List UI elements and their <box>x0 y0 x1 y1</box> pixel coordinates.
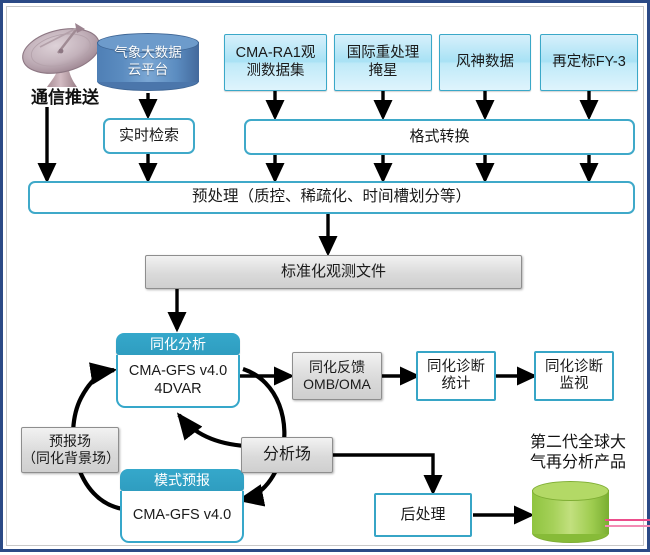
assimilation-feedback-line1: 同化反馈 <box>309 359 365 376</box>
source-fengshen-line1: 风神数据 <box>456 54 514 71</box>
forecast-field-box[interactable]: 预报场 （同化背景场） <box>21 427 119 473</box>
source-box-occultation[interactable]: 国际重处理 掩星 <box>334 34 432 91</box>
format-conversion-label: 格式转换 <box>409 128 469 146</box>
pink-accent-line-upper <box>605 519 650 521</box>
forecast-field-line1: 预报场 <box>49 433 91 450</box>
model-forecast-title: 模式预报 <box>154 470 210 490</box>
realtime-retrieval-label: 实时检索 <box>119 127 179 145</box>
assimilation-analysis-title: 同化分析 <box>150 334 206 354</box>
cloud-platform-line1: 气象大数据 <box>97 45 199 62</box>
cloud-platform-line2: 云平台 <box>97 62 199 79</box>
assimilation-diagnostic-statistics-box[interactable]: 同化诊断 统计 <box>416 351 496 401</box>
diagnostic-statistics-line1: 同化诊断 <box>427 359 485 376</box>
model-forecast-card[interactable]: 模式预报 CMA-GFS v4.0 <box>120 469 244 541</box>
format-conversion-box[interactable]: 格式转换 <box>244 119 635 155</box>
source-box-fy3[interactable]: 再定标FY-3 <box>540 34 638 91</box>
flowchart-figure: 通信推送 气象大数据 云平台 CMA-RA1观 测数据集 国际重处理 掩星 风神… <box>0 0 650 552</box>
diagnostic-statistics-line2: 统计 <box>442 376 471 393</box>
preprocessing-label: 预处理（质控、稀疏化、时间槽划分等） <box>192 188 471 206</box>
model-forecast-body: CMA-GFS v4.0 <box>120 491 244 543</box>
source-occultation-line2: 掩星 <box>369 63 398 80</box>
satellite-push-label: 通信推送 <box>11 88 119 108</box>
post-processing-box[interactable]: 后处理 <box>374 493 472 537</box>
model-forecast-header: 模式预报 <box>120 469 244 491</box>
analysis-field-box[interactable]: 分析场 <box>241 437 333 473</box>
assimilation-analysis-body: CMA-GFS v4.0 4DVAR <box>116 355 240 408</box>
standard-observation-file-label: 标准化观测文件 <box>281 263 386 281</box>
assimilation-analysis-card[interactable]: 同化分析 CMA-GFS v4.0 4DVAR <box>116 333 240 406</box>
cloud-platform-text: 气象大数据 云平台 <box>97 45 199 79</box>
realtime-retrieval-box[interactable]: 实时检索 <box>103 118 195 154</box>
assimilation-feedback-line2: OMB/OMA <box>303 376 371 393</box>
assimilation-analysis-line1: CMA-GFS v4.0 <box>129 363 227 380</box>
assimilation-diagnostic-monitoring-box[interactable]: 同化诊断 监视 <box>534 351 614 401</box>
post-processing-label: 后处理 <box>400 506 445 524</box>
source-cma-ra1-line1: CMA-RA1观 <box>236 45 316 62</box>
diagnostic-monitoring-line2: 监视 <box>560 376 589 393</box>
reanalysis-product-cylinder <box>532 481 609 543</box>
forecast-field-line2: （同化背景场） <box>22 450 118 467</box>
product-cylinder-top <box>532 481 609 501</box>
pink-accent-line-lower <box>605 525 650 527</box>
cloud-platform-cylinder: 气象大数据 云平台 <box>97 33 199 91</box>
assimilation-analysis-header: 同化分析 <box>116 333 240 355</box>
assimilation-feedback-box[interactable]: 同化反馈 OMB/OMA <box>292 352 382 400</box>
assimilation-analysis-line2: 4DVAR <box>154 381 201 398</box>
source-fy3-line1: 再定标FY-3 <box>552 54 626 71</box>
reanalysis-product-line2: 气再分析产品 <box>508 453 648 473</box>
standard-observation-file-box[interactable]: 标准化观测文件 <box>145 255 522 289</box>
analysis-field-label: 分析场 <box>263 446 311 465</box>
model-forecast-line1: CMA-GFS v4.0 <box>133 507 231 524</box>
source-occultation-line1: 国际重处理 <box>347 45 420 62</box>
source-box-fengshen[interactable]: 风神数据 <box>439 34 531 91</box>
source-cma-ra1-line2: 测数据集 <box>247 63 305 80</box>
source-box-cma-ra1[interactable]: CMA-RA1观 测数据集 <box>224 34 327 91</box>
reanalysis-product-label: 第二代全球大 气再分析产品 <box>508 433 648 472</box>
reanalysis-product-line1: 第二代全球大 <box>508 433 648 453</box>
diagnostic-monitoring-line1: 同化诊断 <box>545 359 603 376</box>
preprocessing-box[interactable]: 预处理（质控、稀疏化、时间槽划分等） <box>28 181 635 214</box>
